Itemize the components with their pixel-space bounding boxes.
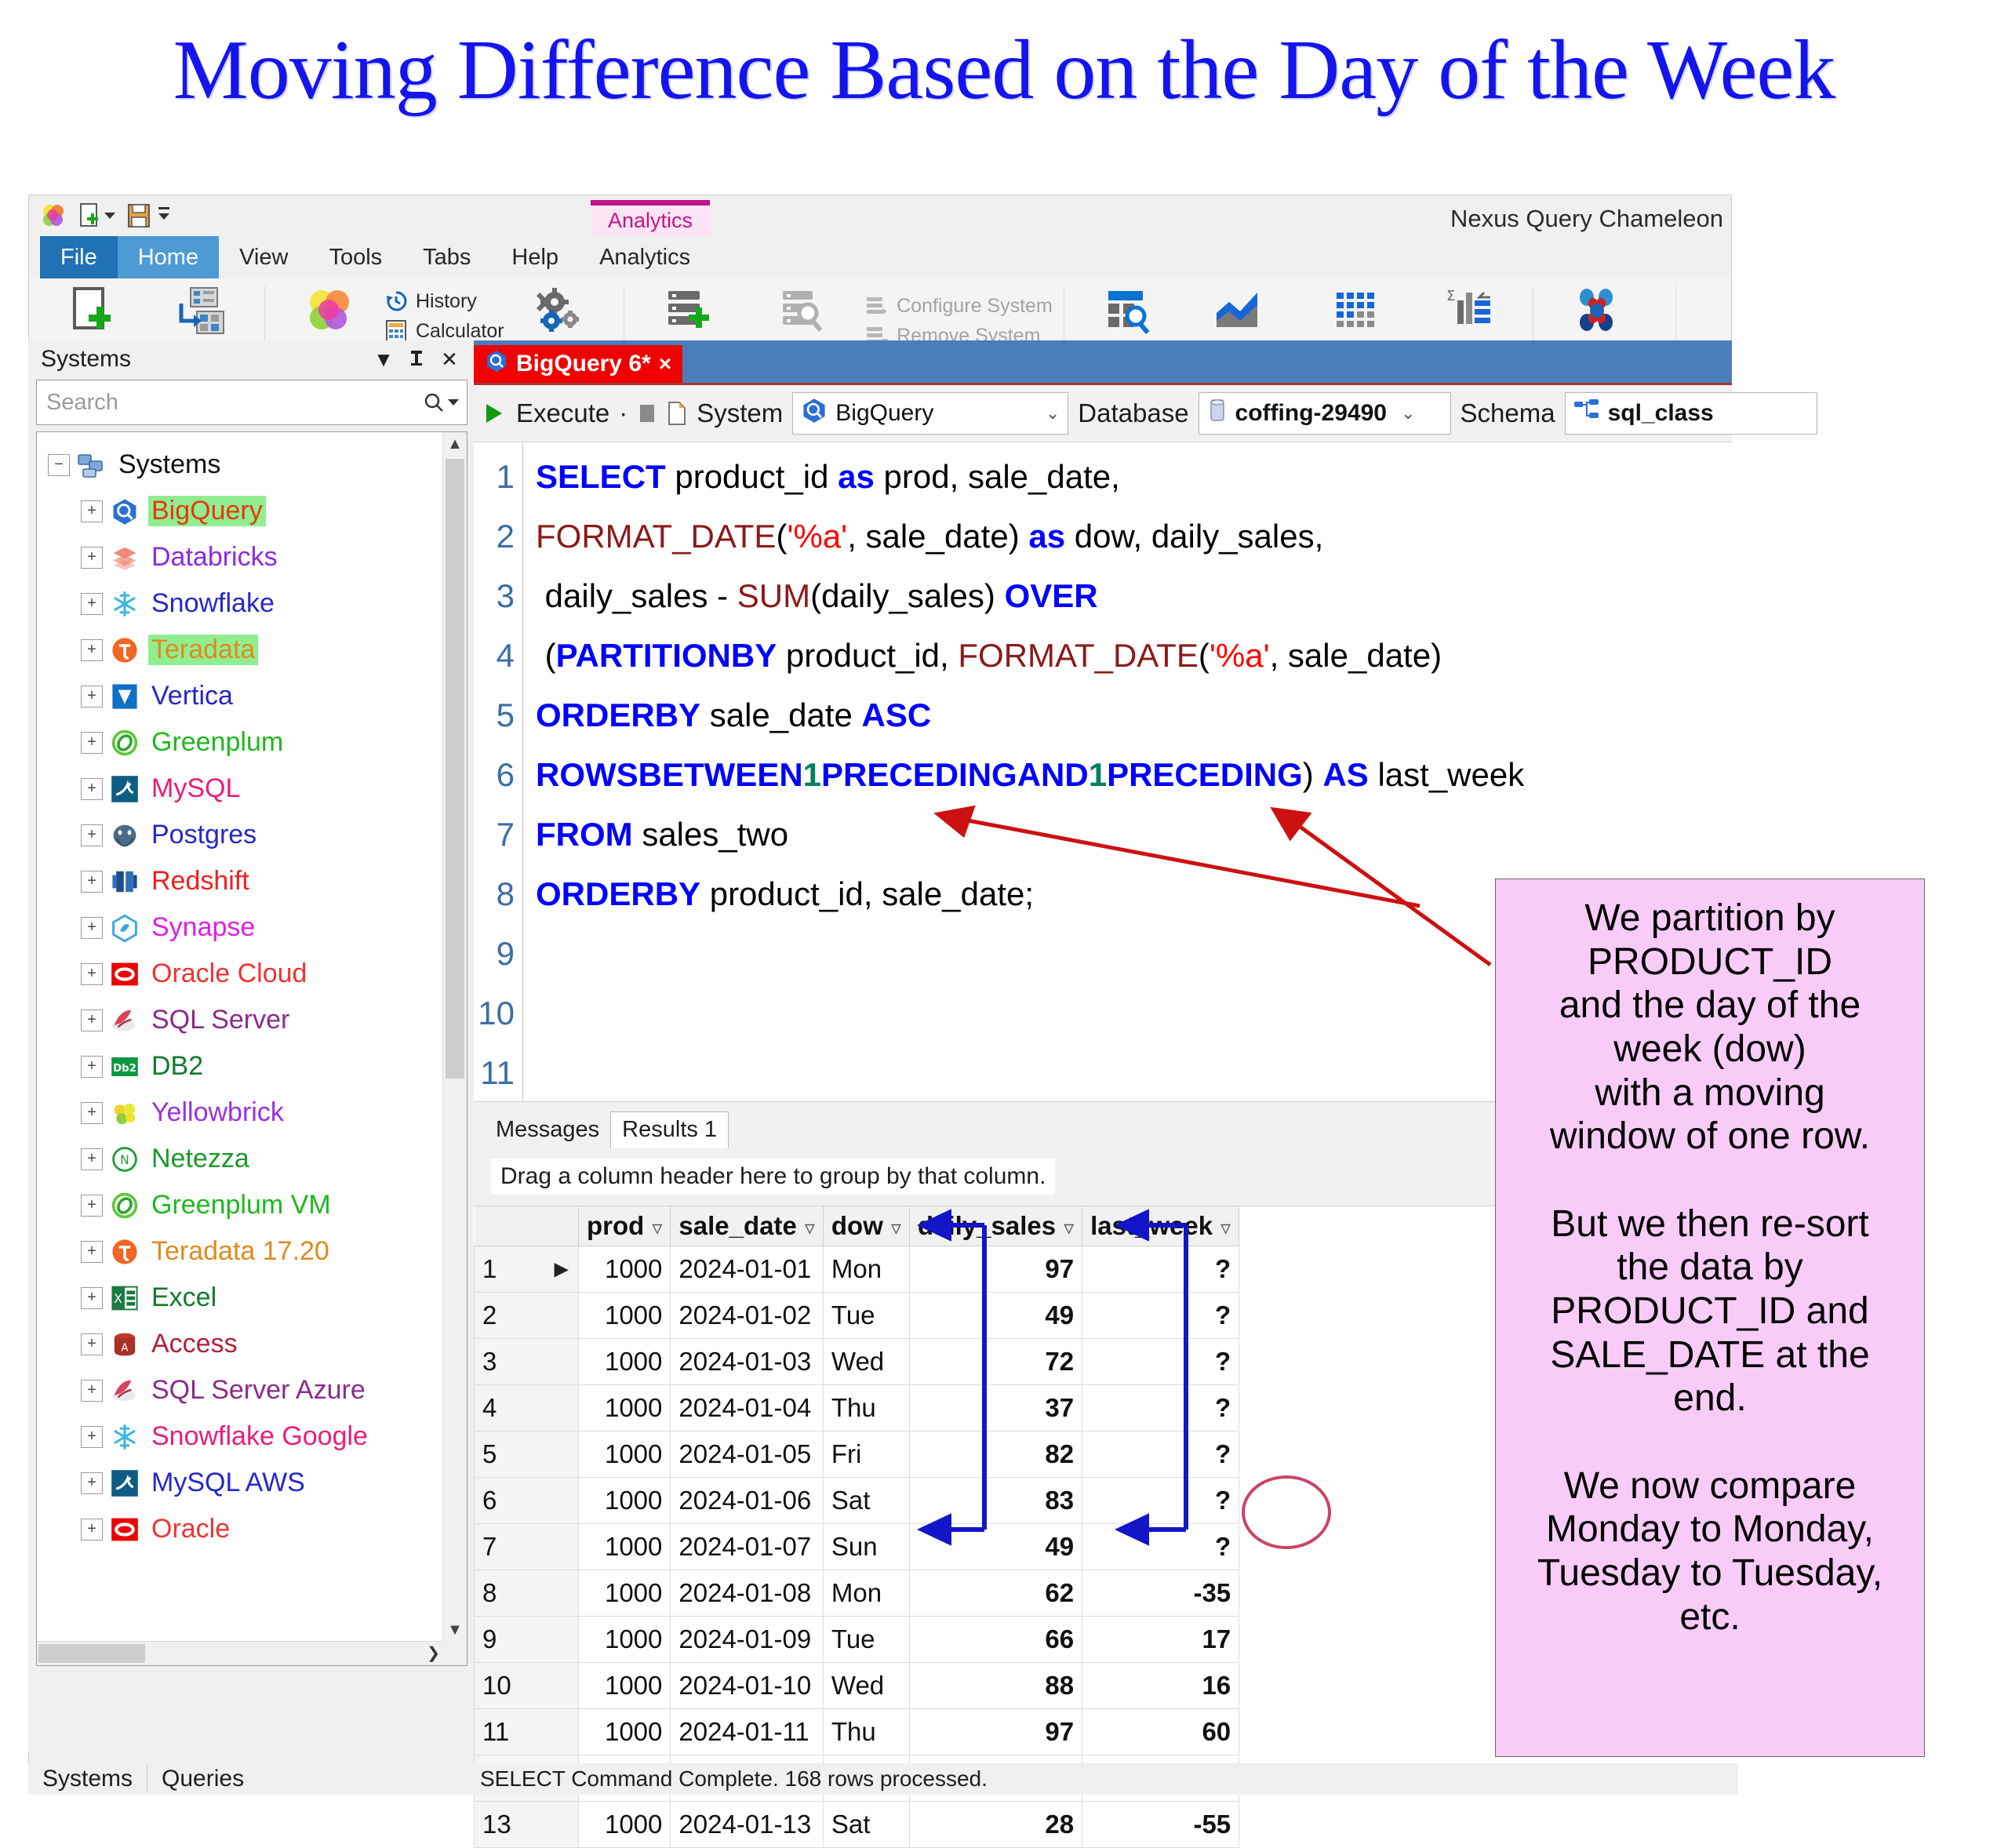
table-row[interactable]: 1110002024-01-11Thu9760	[475, 1709, 1239, 1755]
callout-annotation: We partition by PRODUCT_ID and the day o…	[1495, 879, 1925, 1757]
sql-line: ORDER BY sale_date ASC	[536, 686, 1732, 745]
chart-graph-icon	[1212, 286, 1267, 336]
systems-panel-header: Systems ▼ ✕	[28, 340, 474, 378]
tree-item-label: SQL Server	[148, 1005, 293, 1035]
line-number: 2	[474, 507, 522, 566]
cell-last-week: ?	[1082, 1385, 1239, 1431]
tree-item-synapse[interactable]: +Synapse	[37, 904, 467, 951]
database-value: coffing-29490	[1235, 400, 1387, 427]
expand-toggle-icon[interactable]: +	[81, 1519, 103, 1541]
super-join-icon[interactable]	[40, 202, 67, 229]
row-number: 2	[475, 1293, 579, 1339]
tree-item-vertica[interactable]: +Vertica	[37, 673, 467, 719]
tree-item-mysql[interactable]: +MySQL	[37, 766, 467, 812]
synapse-icon	[109, 912, 140, 944]
tree-vertical-scrollbar[interactable]: ▲ ▼	[442, 432, 467, 1665]
system-management-small-list: Configure System Remove System	[865, 285, 1053, 347]
expand-toggle-icon[interactable]: +	[81, 1380, 103, 1402]
tree-item-systems[interactable]: −Systems	[37, 442, 467, 488]
expand-toggle-icon[interactable]: +	[81, 824, 103, 846]
cell-dow: Mon	[823, 1570, 909, 1617]
table-row[interactable]: 510002024-01-05Fri82?	[475, 1431, 1239, 1478]
row-number: 6	[475, 1478, 579, 1524]
tree-item-teradata[interactable]: +Teradata	[37, 627, 467, 673]
history-icon	[384, 289, 408, 313]
tree-item-access[interactable]: +AAccess	[37, 1321, 467, 1367]
expand-toggle-icon[interactable]: −	[48, 454, 70, 476]
server-dashboard-icon	[1570, 286, 1624, 336]
table-row[interactable]: 810002024-01-08Mon62-35	[475, 1570, 1239, 1617]
scroll-right-icon[interactable]: ❯	[427, 1643, 440, 1663]
systems-search-box[interactable]	[36, 380, 467, 425]
filter-icon[interactable]: ▿	[1064, 1216, 1074, 1239]
expand-toggle-icon[interactable]: +	[81, 1472, 103, 1494]
panel-dock-tabs: Systems Queries	[28, 1763, 474, 1795]
column-header-last-week[interactable]: last_week▿	[1082, 1206, 1239, 1246]
cell-last-week: 17	[1082, 1617, 1239, 1663]
tree-item-sql-server-azure[interactable]: +SQL Server Azure	[37, 1367, 467, 1413]
cell-prod: 1000	[579, 1570, 671, 1617]
oracle-cloud-icon	[109, 959, 140, 990]
cell-sale-date: 2024-01-08	[671, 1570, 824, 1617]
table-row[interactable]: 610002024-01-06Sat83?	[475, 1478, 1239, 1524]
cell-dow: Mon	[823, 1246, 909, 1293]
sql-line: SELECT product_id as prod, sale_date,	[536, 447, 1732, 507]
tree-item-label: BigQuery	[148, 496, 266, 526]
cell-prod: 1000	[579, 1709, 671, 1755]
cell-sale-date: 2024-01-04	[671, 1385, 824, 1431]
cell-daily-sales: 72	[909, 1339, 1082, 1385]
explain-icon[interactable]	[667, 401, 687, 426]
column-label-sale-date: sale_date	[678, 1211, 796, 1240]
scroll-down-icon[interactable]: ▼	[443, 1618, 467, 1642]
cell-sale-date: 2024-01-02	[671, 1293, 824, 1339]
results-table: prod▿ sale_date▿ dow▿ daily_sales▿ last_…	[474, 1206, 1239, 1848]
ribbon-tabs: File Home View Tools Tabs Help Analytics	[29, 236, 1731, 278]
calculator-button[interactable]: Calculator	[384, 319, 504, 343]
cell-sale-date: 2024-01-07	[671, 1524, 824, 1570]
tree-item-label: Access	[148, 1329, 241, 1359]
expand-toggle-icon[interactable]: +	[81, 1102, 103, 1124]
tab-results-1[interactable]: Results 1	[610, 1111, 729, 1148]
cell-dow: Tue	[823, 1617, 909, 1663]
query-tab-label: BigQuery 6*	[516, 351, 651, 377]
schema-select[interactable]: sql_class	[1565, 392, 1817, 435]
tree-item-sql-server[interactable]: +SQL Server	[37, 997, 467, 1043]
garden-of-analytics-icon	[1100, 286, 1155, 336]
row-number: 1▶	[475, 1246, 579, 1293]
database-select[interactable]: coffing-29490 ⌄	[1199, 392, 1451, 435]
sql-line: FORMAT_DATE('%a', sale_date) as dow, dai…	[536, 507, 1732, 566]
sql-server-azure-icon	[109, 1375, 140, 1406]
page-title: Moving Difference Based on the Day of th…	[0, 22, 2008, 119]
cell-dow: Sat	[823, 1802, 909, 1848]
systems-root-icon	[76, 449, 107, 481]
configure-system-label: Configure System	[897, 295, 1053, 318]
query-tab-bigquery6[interactable]: BigQuery 6* ×	[474, 345, 682, 383]
row-number: 3	[475, 1339, 579, 1385]
column-label-prod: prod	[587, 1211, 644, 1240]
sql-line: ROWS BETWEEN 1 PRECEDING AND 1 PRECEDING…	[536, 745, 1732, 805]
tree-item-label: DB2	[148, 1051, 206, 1082]
tree-item-label: Vertica	[148, 681, 236, 711]
ribbon-tab-home[interactable]: Home	[118, 236, 219, 278]
cell-dow: Fri	[823, 1431, 909, 1478]
table-row[interactable]: 910002024-01-09Tue6617	[475, 1617, 1239, 1663]
ribbon-tab-file[interactable]: File	[40, 236, 118, 278]
cell-prod: 1000	[579, 1246, 671, 1293]
cell-last-week: 16	[1082, 1663, 1239, 1709]
expand-toggle-icon[interactable]: +	[81, 547, 103, 569]
column-label-daily-sales: daily_sales	[918, 1211, 1056, 1240]
vertica-icon	[109, 681, 140, 712]
tree-item-mysql-aws[interactable]: +MySQL AWS	[37, 1460, 467, 1506]
query-tabstrip: BigQuery 6* ×	[474, 340, 1732, 385]
system-select[interactable]: BigQuery ⌄	[792, 392, 1068, 435]
contextual-tab-analytics[interactable]: Analytics	[591, 200, 710, 236]
expand-toggle-icon[interactable]: +	[81, 1287, 103, 1309]
tree-item-label: Netezza	[148, 1144, 253, 1174]
cell-daily-sales: 66	[909, 1617, 1082, 1663]
expand-toggle-icon[interactable]: +	[81, 1426, 103, 1448]
tree-item-snowflake[interactable]: +Snowflake	[37, 580, 467, 627]
tree-item-oracle-cloud[interactable]: +Oracle Cloud	[37, 951, 467, 997]
cell-sale-date: 2024-01-03	[671, 1339, 824, 1385]
bigquery-icon	[801, 397, 828, 430]
schema-label: Schema	[1461, 398, 1555, 428]
chevron-down-icon[interactable]: ⌄	[1046, 403, 1060, 424]
column-label-last-week: last_week	[1090, 1211, 1213, 1240]
cell-dow: Sat	[823, 1478, 909, 1524]
systems-tree[interactable]: −Systems+BigQuery+Databricks+Snowflake+T…	[36, 431, 467, 1666]
tab-messages[interactable]: Messages	[485, 1112, 610, 1148]
tree-item-label: Teradata	[148, 635, 258, 665]
postgres-icon	[109, 820, 140, 851]
cell-sale-date: 2024-01-09	[671, 1617, 824, 1663]
cell-prod: 1000	[579, 1293, 671, 1339]
tree-item-greenplum[interactable]: +Greenplum	[37, 719, 467, 766]
spreadsheet-icon	[1329, 286, 1384, 336]
tree-item-snowflake-google[interactable]: +Snowflake Google	[37, 1413, 467, 1460]
expand-toggle-icon[interactable]: +	[81, 1333, 103, 1355]
table-row[interactable]: 410002024-01-04Thu37?	[475, 1385, 1239, 1431]
systems-panel-title: Systems	[41, 346, 131, 373]
tree-item-label: Greenplum VM	[148, 1190, 334, 1220]
new-query-icon[interactable]	[79, 202, 115, 229]
cell-dow: Tue	[823, 1293, 909, 1339]
svg-text:Σ: Σ	[1446, 288, 1455, 304]
tree-item-label: Oracle	[148, 1514, 233, 1544]
cell-sale-date: 2024-01-05	[671, 1431, 824, 1478]
row-number: 5	[475, 1431, 579, 1478]
tree-item-label: Excel	[148, 1282, 220, 1313]
svg-text:Db2: Db2	[113, 1063, 136, 1075]
cell-dow: Sun	[823, 1524, 909, 1570]
calculator-icon	[384, 319, 408, 343]
execute-dropdown-icon[interactable]: ·	[619, 398, 627, 428]
table-row[interactable]: 310002024-01-03Wed72?	[475, 1339, 1239, 1385]
line-number: 5	[474, 686, 522, 745]
tree-item-label: Greenplum	[148, 727, 286, 758]
scan-system-schema-icon	[775, 286, 830, 336]
tree-item-bigquery[interactable]: +BigQuery	[37, 488, 467, 534]
dock-tab-systems[interactable]: Systems	[28, 1766, 147, 1792]
execute-icon[interactable]	[480, 400, 507, 427]
tree-item-label: MySQL AWS	[148, 1468, 308, 1498]
expand-toggle-icon[interactable]: +	[81, 732, 103, 754]
filter-icon[interactable]: ▿	[891, 1216, 901, 1239]
bigquery-icon	[109, 496, 140, 527]
cell-last-week: ?	[1082, 1246, 1239, 1293]
new-query-icon	[65, 286, 120, 336]
excel-icon: X	[109, 1282, 140, 1314]
line-number: 10	[474, 984, 522, 1043]
history-button[interactable]: History	[384, 289, 504, 313]
cell-prod: 1000	[579, 1617, 671, 1663]
svg-text:X: X	[114, 1292, 122, 1306]
column-header-dow[interactable]: dow▿	[823, 1206, 909, 1246]
system-label: System	[697, 398, 783, 428]
cell-daily-sales: 88	[909, 1663, 1082, 1709]
dock-tab-queries[interactable]: Queries	[147, 1766, 258, 1792]
tree-item-label: Oracle Cloud	[148, 959, 310, 989]
expand-toggle-icon[interactable]: +	[81, 1148, 103, 1170]
schema-icon	[1573, 398, 1600, 428]
yellowbrick-icon	[109, 1097, 140, 1129]
close-icon[interactable]: ×	[659, 351, 671, 377]
cell-daily-sales: 62	[909, 1570, 1082, 1617]
column-header-prod[interactable]: prod▿	[579, 1206, 671, 1246]
sql-line: daily_sales - SUM(daily_sales) OVER	[536, 566, 1732, 626]
column-label-dow: dow	[831, 1211, 883, 1240]
chevron-down-icon[interactable]	[448, 399, 459, 406]
teradata-icon	[109, 1236, 140, 1268]
calculator-label: Calculator	[416, 320, 504, 343]
line-number: 1	[474, 447, 522, 507]
greenplum-vm-icon	[109, 1190, 140, 1221]
cell-prod: 1000	[579, 1339, 671, 1385]
tree-item-netezza[interactable]: +NNetezza	[37, 1136, 467, 1182]
tree-item-teradata-17-20[interactable]: +Teradata 17.20	[37, 1228, 467, 1275]
cell-last-week: ?	[1082, 1478, 1239, 1524]
oracle-icon	[109, 1514, 140, 1545]
expand-toggle-icon[interactable]: +	[81, 1056, 103, 1078]
cell-prod: 1000	[579, 1802, 671, 1848]
ribbon-tab-view[interactable]: View	[219, 236, 308, 278]
access-icon: A	[109, 1329, 140, 1360]
row-number: 7	[475, 1524, 579, 1570]
ribbon-tab-tabs[interactable]: Tabs	[402, 236, 491, 278]
line-number: 4	[474, 626, 522, 686]
filter-icon[interactable]: ▿	[1220, 1216, 1231, 1239]
bigquery-icon	[485, 349, 508, 379]
query-toolbar: Execute · System BigQuery ⌄ Database cof…	[474, 385, 1732, 442]
tree-item-label: Systems	[115, 449, 224, 480]
cell-daily-sales: 49	[909, 1293, 1082, 1339]
search-icon[interactable]	[423, 391, 459, 413]
db2-icon: Db2	[109, 1051, 140, 1082]
line-number: 8	[474, 864, 522, 924]
tree-item-db2[interactable]: +Db2DB2	[37, 1043, 467, 1090]
expand-toggle-icon[interactable]: +	[81, 1009, 103, 1031]
column-header-sale-date[interactable]: sale_date▿	[671, 1206, 824, 1246]
cell-dow: Thu	[823, 1709, 909, 1755]
cell-sale-date: 2024-01-01	[671, 1246, 824, 1293]
group-by-hint: Drag a column header here to group by th…	[491, 1159, 1055, 1195]
svg-text:N: N	[120, 1153, 129, 1167]
chevron-down-icon[interactable]: ▼	[367, 347, 400, 372]
cell-prod: 1000	[579, 1663, 671, 1709]
filter-icon[interactable]: ▿	[805, 1216, 815, 1239]
schema-value: sql_class	[1608, 400, 1714, 427]
table-row[interactable]: 710002024-01-07Sun49?	[475, 1524, 1239, 1570]
expand-toggle-icon[interactable]: +	[81, 639, 103, 661]
sql-line: (PARTITION BY product_id, FORMAT_DATE('%…	[536, 626, 1732, 686]
row-number: 11	[475, 1709, 579, 1755]
scroll-thumb[interactable]	[446, 459, 464, 1079]
migrate-data-icon	[173, 286, 228, 336]
tree-item-yellowbrick[interactable]: +Yellowbrick	[37, 1090, 467, 1136]
current-row-indicator: ▶	[555, 1258, 569, 1281]
netezza-icon: N	[109, 1144, 140, 1175]
row-number: 13	[475, 1802, 579, 1848]
ribbon-tab-analytics[interactable]: Analytics	[579, 236, 711, 278]
column-header-daily-sales[interactable]: daily_sales▿	[909, 1206, 1082, 1246]
table-header-row: prod▿ sale_date▿ dow▿ daily_sales▿ last_…	[475, 1206, 1239, 1246]
cell-daily-sales: 82	[909, 1431, 1082, 1478]
tree-item-label: Databricks	[148, 542, 281, 573]
configure-system-button[interactable]: Configure System	[865, 294, 1053, 318]
database-label: Database	[1078, 398, 1188, 428]
ribbon-tab-help[interactable]: Help	[491, 236, 579, 278]
cell-daily-sales: 28	[909, 1802, 1082, 1848]
system-value: BigQuery	[835, 400, 933, 427]
stop-icon[interactable]	[637, 402, 657, 425]
snowflake-icon	[109, 1421, 140, 1453]
app-window-title: Nexus Query Chameleon	[1450, 205, 1723, 233]
line-number: 9	[474, 924, 522, 984]
expand-toggle-icon[interactable]: +	[81, 686, 103, 708]
tree-item-label: Snowflake Google	[148, 1421, 371, 1452]
table-row[interactable]: 1310002024-01-13Sat28-55	[475, 1802, 1239, 1848]
expand-toggle-icon[interactable]: +	[81, 871, 103, 893]
tree-item-greenplum-vm[interactable]: +Greenplum VM	[37, 1182, 467, 1228]
tree-item-label: Synapse	[148, 912, 258, 943]
cell-prod: 1000	[579, 1431, 671, 1478]
history-label: History	[416, 290, 477, 313]
execute-button[interactable]: Execute	[516, 398, 609, 428]
tree-item-label: Snowflake	[148, 588, 278, 619]
cell-last-week: -35	[1082, 1570, 1239, 1617]
expand-toggle-icon[interactable]: +	[81, 963, 103, 985]
line-number: 3	[474, 566, 522, 626]
filter-icon[interactable]: ▿	[652, 1216, 662, 1239]
table-row[interactable]: 1▶10002024-01-01Mon97?	[475, 1246, 1239, 1293]
expand-toggle-icon[interactable]: +	[81, 1241, 103, 1263]
snowflake-icon	[109, 588, 140, 620]
tree-item-postgres[interactable]: +Postgres	[37, 812, 467, 858]
cell-last-week: -55	[1082, 1802, 1239, 1848]
databricks-icon	[109, 542, 140, 573]
cell-daily-sales: 83	[909, 1478, 1082, 1524]
sql-server-icon	[109, 1005, 140, 1036]
cell-last-week: ?	[1082, 1293, 1239, 1339]
cell-prod: 1000	[579, 1478, 671, 1524]
cell-daily-sales: 97	[909, 1246, 1082, 1293]
customize-qat-icon[interactable]	[158, 205, 170, 227]
cell-last-week: ?	[1082, 1431, 1239, 1478]
pin-icon[interactable]	[400, 349, 433, 369]
row-number-header	[475, 1206, 579, 1246]
tree-item-excel[interactable]: +XExcel	[37, 1275, 467, 1321]
cell-last-week: ?	[1082, 1524, 1239, 1570]
scroll-thumb-h[interactable]	[38, 1644, 145, 1663]
row-number: 4	[475, 1385, 579, 1431]
redshift-icon	[109, 866, 140, 897]
tree-item-label: SQL Server Azure	[148, 1375, 369, 1406]
tree-item-redshift[interactable]: +Redshift	[37, 858, 467, 904]
sql-line: FROM sales_two	[536, 805, 1732, 864]
cell-sale-date: 2024-01-11	[671, 1709, 824, 1755]
results-table-body: 1▶10002024-01-01Mon97?210002024-01-02Tue…	[475, 1246, 1239, 1848]
line-number: 6	[474, 745, 522, 805]
chevron-down-icon[interactable]	[104, 213, 115, 219]
super-join-builder-icon	[301, 286, 356, 336]
cell-daily-sales: 97	[909, 1709, 1082, 1755]
save-icon[interactable]	[128, 202, 170, 229]
add-system-icon	[660, 286, 715, 336]
scroll-up-icon[interactable]: ▲	[443, 432, 467, 456]
mysql-icon	[109, 1468, 140, 1499]
cell-dow: Thu	[823, 1385, 909, 1431]
ribbon-tab-tools[interactable]: Tools	[308, 236, 402, 278]
mysql-icon	[109, 773, 140, 805]
database-icon	[1207, 398, 1228, 429]
expand-toggle-icon[interactable]: +	[81, 917, 103, 939]
tree-item-oracle[interactable]: +Oracle	[37, 1506, 467, 1552]
tree-item-label: Yellowbrick	[148, 1097, 287, 1128]
greenplum-icon	[109, 727, 140, 758]
expand-toggle-icon[interactable]: +	[81, 500, 103, 522]
cell-prod: 1000	[579, 1524, 671, 1570]
chevron-down-icon[interactable]: ⌄	[1401, 403, 1415, 424]
systems-tree-rows: −Systems+BigQuery+Databricks+Snowflake+T…	[37, 432, 467, 1552]
search-input[interactable]	[45, 389, 423, 417]
row-number: 8	[475, 1570, 579, 1617]
cell-sale-date: 2024-01-13	[671, 1802, 824, 1848]
tree-horizontal-scrollbar[interactable]: ❯	[37, 1641, 443, 1665]
tree-item-label: Postgres	[148, 820, 260, 850]
configure-system-icon	[865, 294, 889, 318]
close-icon[interactable]: ✕	[433, 347, 466, 372]
expand-toggle-icon[interactable]: +	[81, 593, 103, 615]
line-number: 11	[474, 1043, 522, 1101]
expand-toggle-icon[interactable]: +	[81, 778, 103, 800]
cell-last-week: ?	[1082, 1339, 1239, 1385]
tree-item-databricks[interactable]: +Databricks	[37, 534, 467, 580]
table-row[interactable]: 1010002024-01-10Wed8816	[475, 1663, 1239, 1709]
table-row[interactable]: 210002024-01-02Tue49?	[475, 1293, 1239, 1339]
cell-dow: Wed	[823, 1339, 909, 1385]
cell-prod: 1000	[579, 1385, 671, 1431]
row-number: 10	[475, 1663, 579, 1709]
tree-item-label: Teradata 17.20	[148, 1236, 333, 1267]
expand-toggle-icon[interactable]: +	[81, 1195, 103, 1217]
pivot-icon: Σ	[1442, 286, 1497, 336]
status-bar: SELECT Command Complete. 168 rows proces…	[474, 1763, 1738, 1795]
svg-text:A: A	[121, 1342, 128, 1354]
tree-item-label: MySQL	[148, 773, 243, 804]
